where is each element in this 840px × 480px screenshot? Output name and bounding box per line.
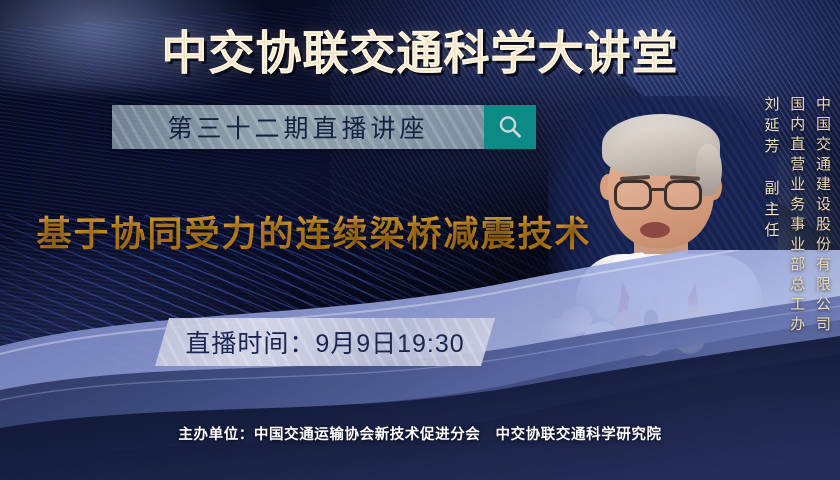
episode-bar: 第三十二期直播讲座 [112,105,536,149]
topic-title: 基于协同受力的连续梁桥减震技术 [24,206,604,257]
speaker-organization: 中国交通建设股份有限公司 [814,96,830,336]
episode-label: 第三十二期直播讲座 [167,109,428,145]
episode-bar-fill: 第三十二期直播讲座 [112,105,484,149]
speaker-mouth [640,222,670,238]
broadcast-time-plaque: 直播时间：9月9日19:30 [155,318,495,366]
live-stream-poster: 中交协联交通科学大讲堂 第三十二期直播讲座 基于协同受力的连续梁桥减震技术 直播… [0,0,840,480]
search-button[interactable] [484,105,536,149]
speaker-credits: 中国交通建设股份有限公司 国内直营业务事业部总工办 刘延芳 副主任 [763,96,830,346]
speaker-name-role: 刘延芳 副主任 [763,96,779,243]
page-title: 中交协联交通科学大讲堂 [0,17,840,83]
glasses-lens-left [614,180,652,210]
glasses-bridge [652,188,664,191]
broadcast-time-label: 直播时间：9月9日19:30 [185,324,464,360]
search-icon [496,113,524,141]
organizers-footer: 主办单位：中国交通运输协会新技术促进分会 中交协联交通科学研究院 [0,423,840,444]
speaker-department: 国内直营业务事业部总工办 [789,96,805,336]
glasses-lens-right [664,180,702,210]
